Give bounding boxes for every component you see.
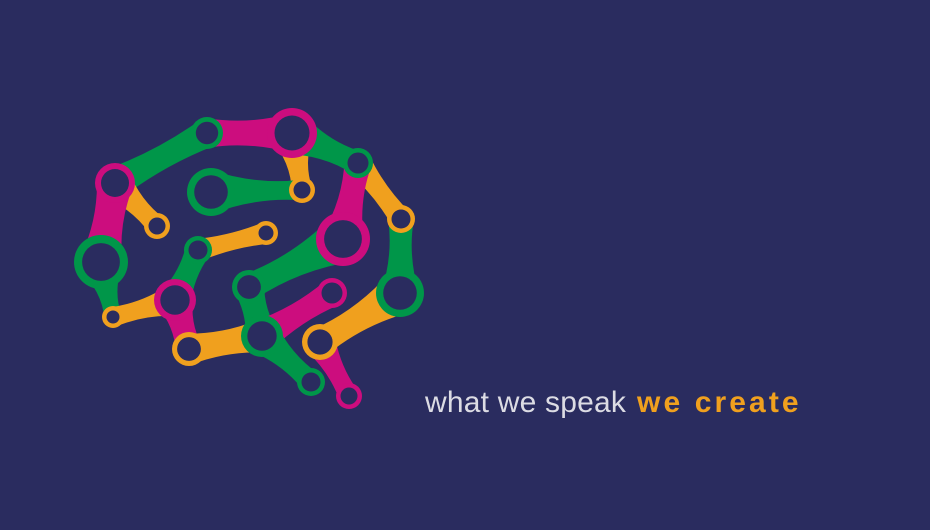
logo-node-hole [322,283,343,304]
logo-node-hole [294,182,311,199]
logo-node-hole [348,153,369,174]
splash-canvas: what we speak we create [0,0,930,530]
tagline-light-text: what we speak [425,388,626,418]
logo-node-hole [82,243,120,281]
logo-node-hole [177,337,201,361]
logo-node-hole [341,388,358,405]
logo-node-hole [194,175,228,209]
logo-node-hole [247,321,276,350]
logo-node-hole [160,285,189,314]
logo-node-hole [189,241,208,260]
tagline-bold-text: we create [637,388,802,418]
logo-node-hole [107,311,120,324]
logo-node-hole [324,220,362,258]
brain-network-logo [55,95,445,435]
logo-node-hole [101,169,129,197]
logo-node-hole [196,122,218,144]
logo-node-hole [392,210,411,229]
logo-node-hole [275,116,310,151]
logo-node-hole [149,218,166,235]
logo-node-layer [74,108,424,409]
logo-node-hole [302,373,321,392]
tagline: what we speak we create [425,388,802,430]
logo-node-hole [383,276,417,310]
logo-node-hole [307,329,332,354]
brain-logo-svg [55,95,445,435]
logo-node-hole [259,226,274,241]
logo-node-hole [237,275,261,299]
